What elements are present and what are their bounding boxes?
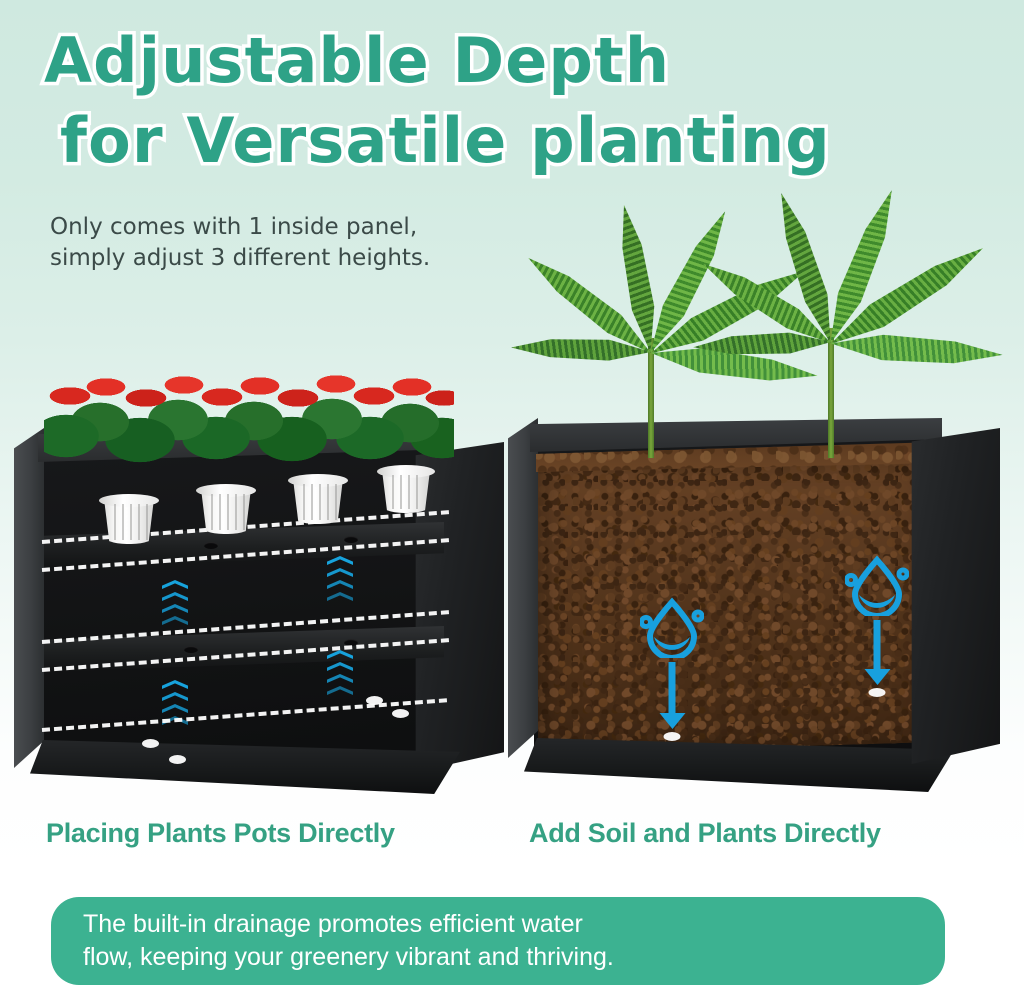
subheading-line-2: simply adjust 3 different heights. — [50, 243, 430, 274]
water-drop-indicator — [640, 596, 704, 746]
adjust-up-chevron-icon — [327, 556, 353, 604]
subheading-line-1: Only comes with 1 inside panel, — [50, 212, 430, 243]
water-drop-indicator — [845, 554, 909, 702]
planter-left-wall — [508, 418, 538, 758]
caption-row: Placing Plants Pots Directly Add Soil an… — [0, 818, 1024, 860]
drain-hole — [664, 732, 681, 741]
water-drop-icon — [640, 596, 704, 658]
drainage-arrow-icon — [669, 662, 676, 716]
soil-filled-planter — [508, 418, 1000, 798]
anthurium-flowers — [44, 374, 454, 414]
banner-line-2: flow, keeping your greenery vibrant and … — [83, 941, 614, 974]
pot-rim — [196, 484, 256, 497]
drain-hole — [169, 755, 186, 764]
banner-text: The built-in drainage promotes efficient… — [83, 908, 614, 974]
page-subheading: Only comes with 1 inside panel, simply a… — [50, 212, 430, 274]
caption-left-planter: Placing Plants Pots Directly — [46, 818, 395, 849]
planter-right-side-panel — [904, 428, 1000, 764]
headline-line-2: for Versatile planting — [60, 104, 984, 178]
adjust-up-chevron-icon — [162, 580, 188, 628]
page-headline: Adjustable Depth for Versatile planting — [44, 24, 984, 178]
adjustable-shelf-planter — [14, 428, 504, 800]
plant-pot — [199, 490, 253, 534]
drain-hole — [366, 696, 383, 705]
drainage-arrow-icon — [874, 620, 881, 672]
plant-pot — [102, 500, 156, 544]
marketing-image-canvas: Adjustable Depth for Versatile planting … — [0, 0, 1024, 993]
drain-hole — [392, 709, 409, 718]
drain-hole — [869, 688, 886, 697]
planter-left-wall — [14, 428, 44, 768]
pot-rim — [377, 465, 435, 478]
water-drop-icon — [845, 554, 909, 616]
adjust-up-chevron-icon — [327, 650, 353, 698]
drainage-feature-banner: The built-in drainage promotes efficient… — [51, 897, 945, 985]
caption-right-planter: Add Soil and Plants Directly — [529, 818, 881, 849]
pot-rim — [99, 494, 159, 507]
pot-rim — [288, 474, 348, 487]
drain-hole — [142, 739, 159, 748]
plant-pot — [291, 480, 345, 524]
plant-pot — [380, 471, 432, 513]
banner-line-1: The built-in drainage promotes efficient… — [83, 908, 614, 941]
headline-line-1: Adjustable Depth — [44, 24, 984, 98]
